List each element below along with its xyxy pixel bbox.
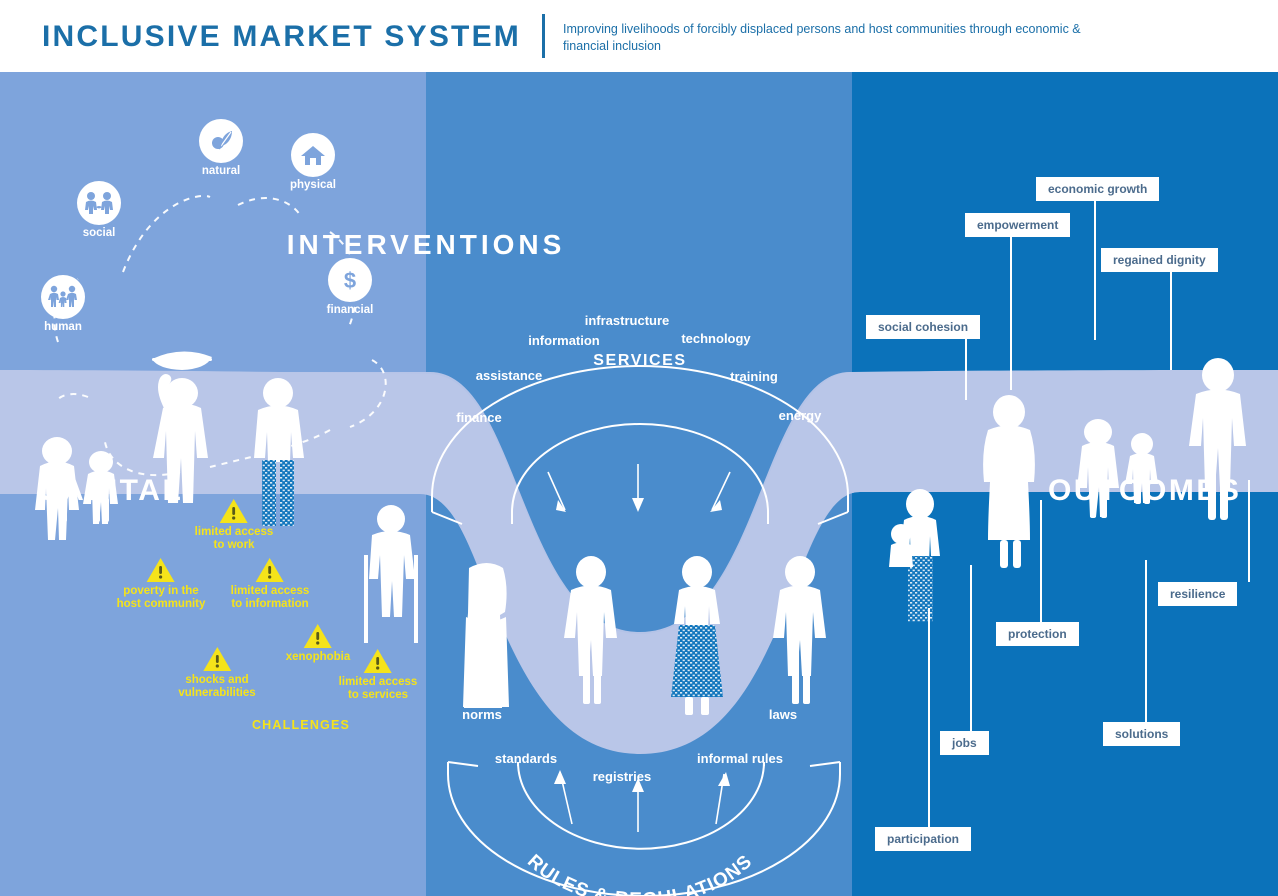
outcome-callout-empowerment: empowerment	[965, 213, 1070, 237]
warning-triangle-icon	[202, 646, 232, 672]
outcome-callout-protection: protection	[996, 622, 1079, 646]
section-title-capital: CAPITAL	[38, 474, 183, 508]
capital-label-natural: natural	[202, 165, 240, 177]
page-title: INCLUSIVE MARKET SYSTEM	[42, 20, 521, 54]
outcome-leader-line	[970, 565, 972, 731]
warning-triangle-icon	[146, 557, 176, 583]
dollar-icon: $	[328, 258, 372, 302]
outcome-callout-social-cohesion: social cohesion	[866, 315, 980, 339]
service-label-technology: technology	[681, 331, 750, 346]
outcome-leader-line	[1094, 201, 1096, 340]
capital-label-financial: financial	[327, 304, 374, 316]
warning-triangle-icon	[363, 648, 393, 674]
capital-label-human: human	[44, 321, 82, 333]
challenge-item: limited accessto services	[339, 648, 418, 702]
warning-triangle-icon	[303, 623, 333, 649]
challenge-item: poverty in thehost community	[117, 557, 206, 611]
challenge-item: shocks andvulnerabilities	[178, 646, 255, 700]
service-label-finance: finance	[456, 410, 502, 425]
warning-triangle-icon	[219, 498, 249, 524]
capital-label-physical: physical	[290, 179, 336, 191]
challenge-label: limited accessto information	[231, 585, 310, 611]
outcome-leader-line	[1040, 500, 1042, 622]
challenge-label: shocks andvulnerabilities	[178, 674, 255, 700]
svg-text:$: $	[344, 268, 356, 293]
outcome-leader-line	[928, 608, 930, 827]
challenge-label: limited accessto work	[195, 526, 274, 552]
header-divider	[542, 14, 545, 58]
outcome-leader-line	[965, 339, 967, 400]
service-label-training: training	[730, 369, 778, 384]
outcome-callout-jobs: jobs	[940, 731, 989, 755]
rule-label-norms: norms	[462, 707, 502, 722]
outcome-leader-line	[1170, 272, 1172, 370]
service-label-assistance: assistance	[476, 368, 543, 383]
rule-label-laws: laws	[769, 707, 797, 722]
challenge-item: limited accessto work	[195, 498, 274, 552]
family-icon	[41, 275, 85, 319]
infographic-canvas: INCLUSIVE MARKET SYSTEM Improving liveli…	[0, 0, 1278, 896]
outcome-callout-resilience: resilience	[1158, 582, 1237, 606]
header: INCLUSIVE MARKET SYSTEM Improving liveli…	[0, 0, 1278, 72]
leaf-icon	[199, 119, 243, 163]
rule-label-registries: registries	[593, 769, 652, 784]
outcome-callout-regained-dignity: regained dignity	[1101, 248, 1218, 272]
service-label-energy: energy	[779, 408, 822, 423]
rule-label-standards: standards	[495, 751, 557, 766]
outcome-callout-participation: participation	[875, 827, 971, 851]
handshake-icon	[77, 181, 121, 225]
warning-triangle-icon	[255, 557, 285, 583]
challenge-label: limited accessto services	[339, 676, 418, 702]
services-arc-title: SERVICES	[593, 352, 686, 370]
outcome-leader-line	[1248, 480, 1250, 582]
challenge-item: limited accessto information	[231, 557, 310, 611]
outcome-leader-line	[1145, 560, 1147, 722]
challenges-heading: CHALLENGES	[252, 718, 350, 732]
service-label-infrastructure: infrastructure	[585, 313, 670, 328]
outcome-leader-line	[1010, 237, 1012, 390]
house-icon	[291, 133, 335, 177]
outcome-callout-solutions: solutions	[1103, 722, 1180, 746]
outcome-callout-economic-growth: economic growth	[1036, 177, 1159, 201]
challenge-label: poverty in thehost community	[117, 585, 206, 611]
service-label-information: information	[528, 333, 600, 348]
header-subtitle: Improving livelihoods of forcibly displa…	[563, 21, 1083, 55]
section-title-interventions: INTERVENTIONS	[0, 229, 852, 261]
section-title-outcomes: OUTCOMES	[1048, 474, 1241, 508]
capital-label-social: social	[83, 227, 116, 239]
rule-label-informal-rules: informal rules	[697, 751, 783, 766]
